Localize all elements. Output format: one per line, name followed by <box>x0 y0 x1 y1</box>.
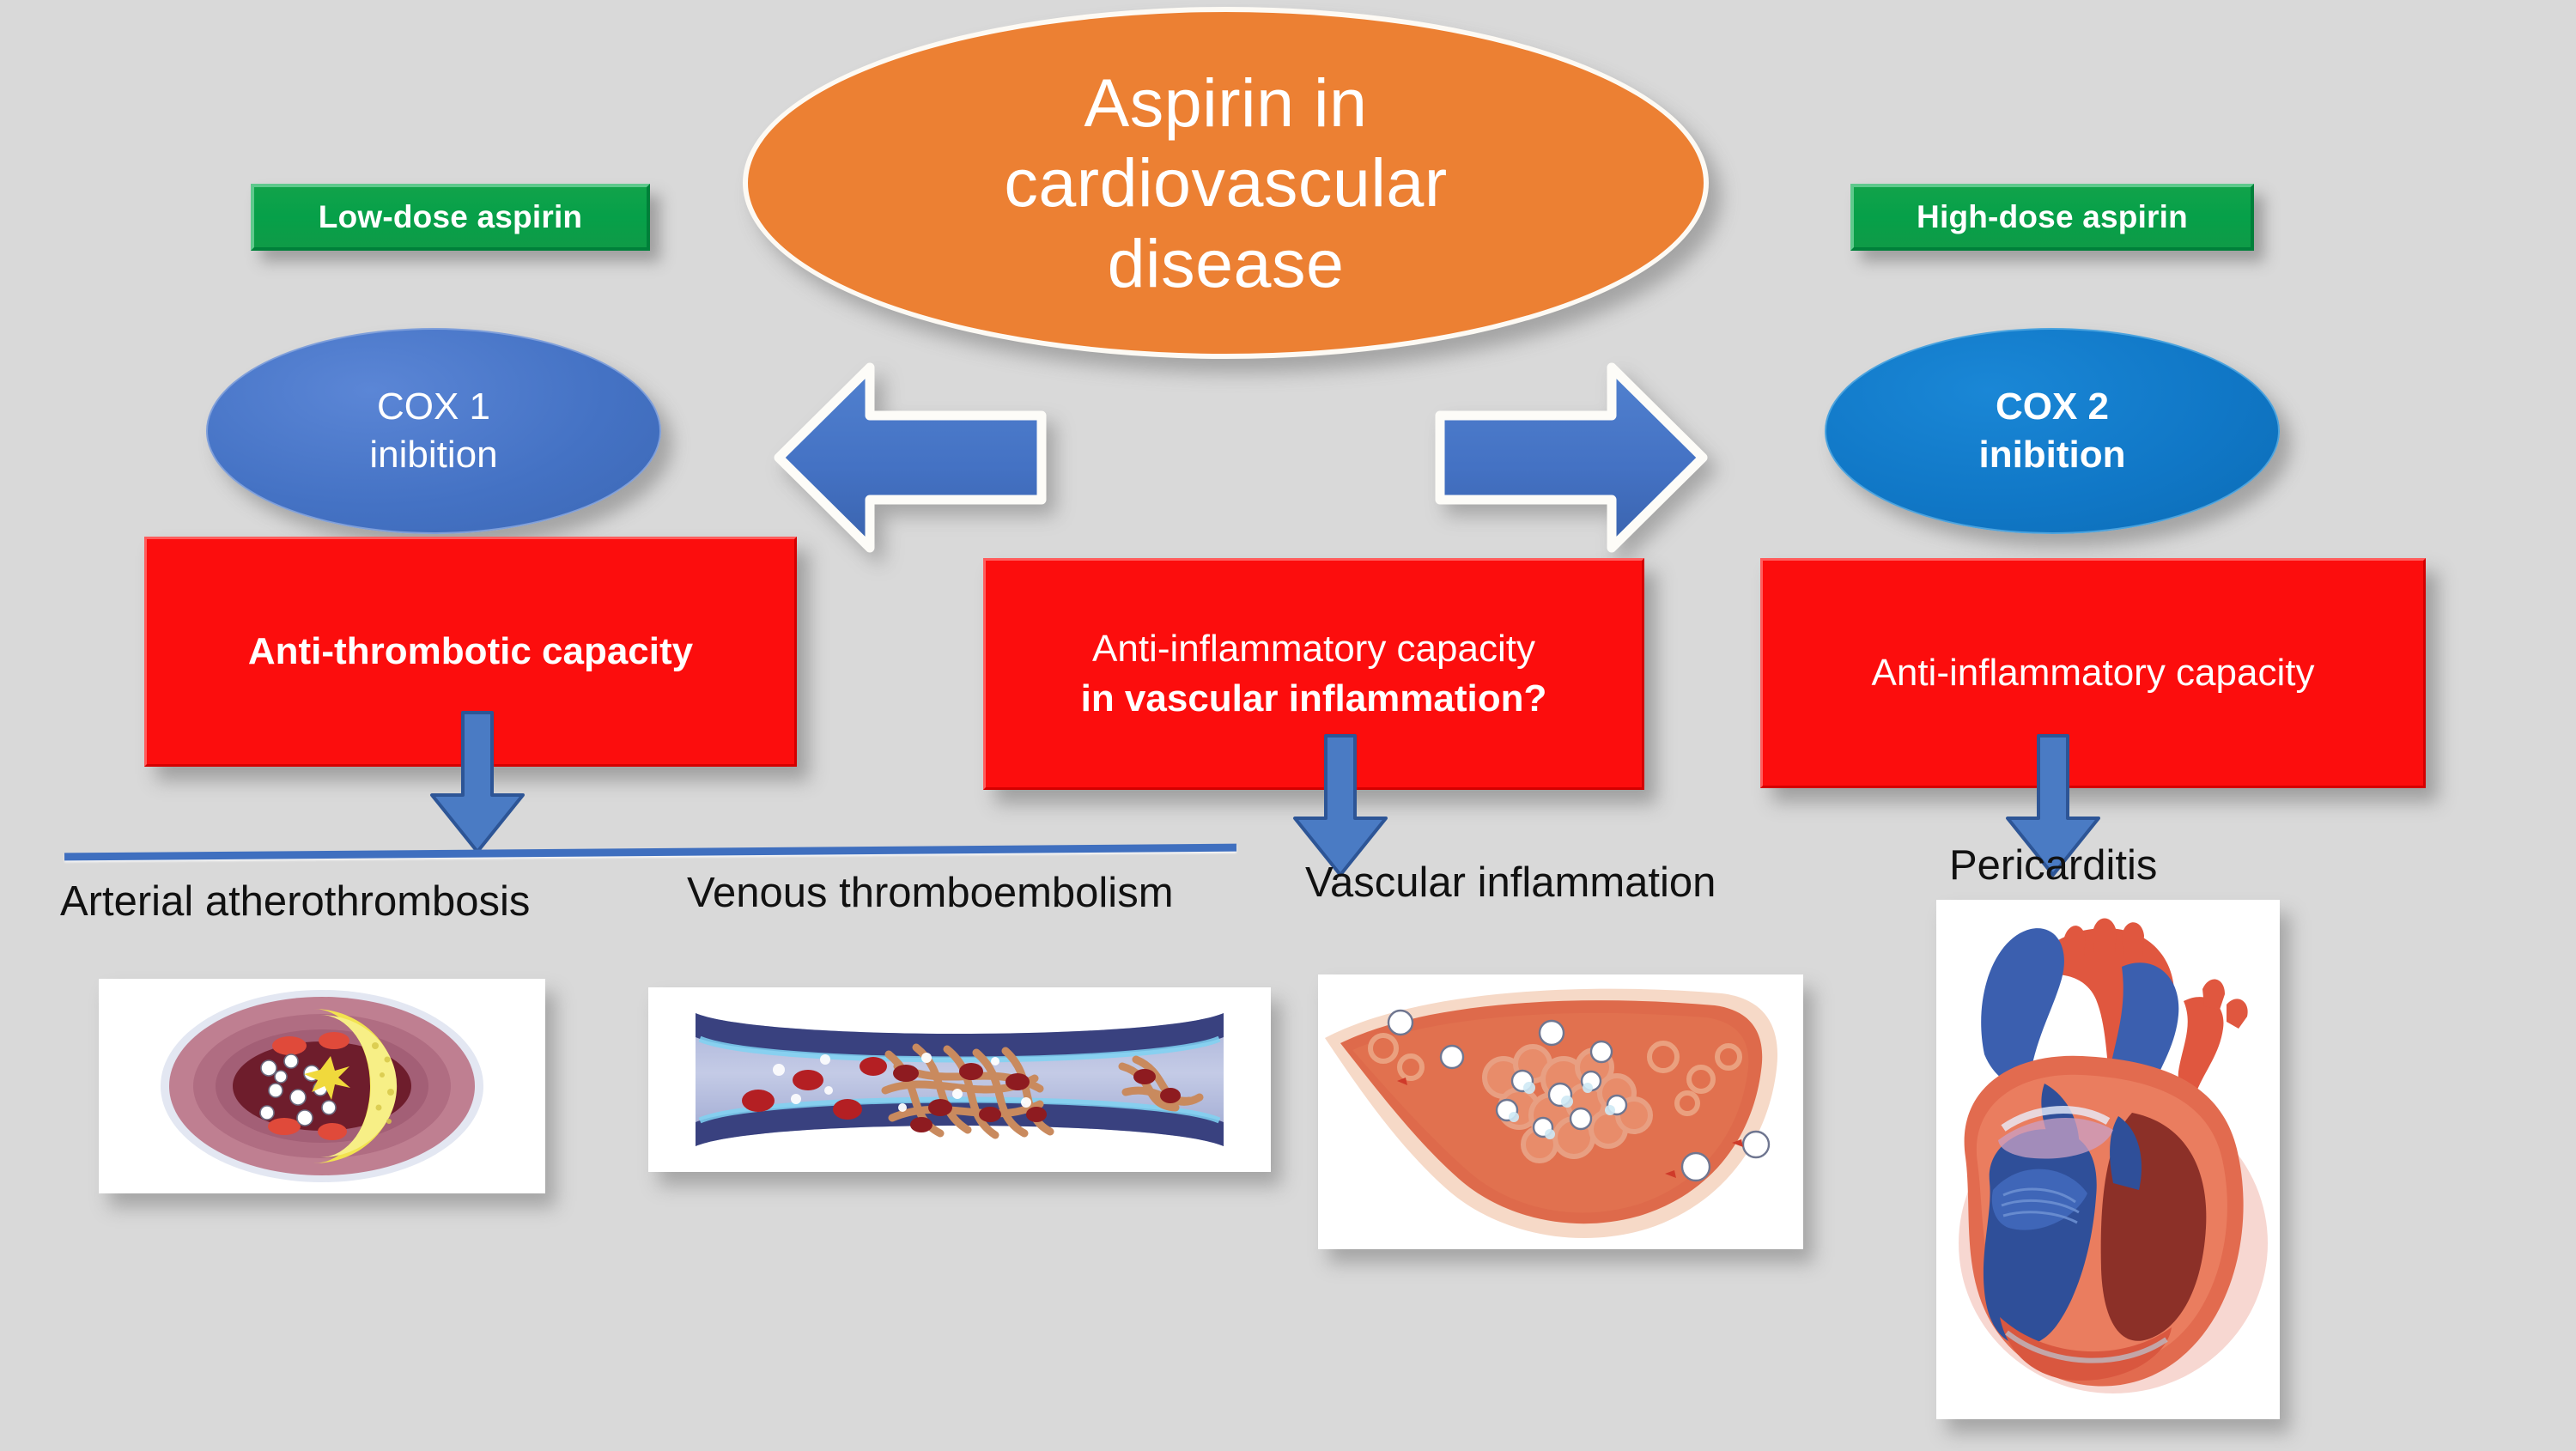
low-dose-aspirin-label: Low-dose aspirin <box>319 199 582 235</box>
arrow-down-icon-arterial <box>425 711 530 855</box>
arrow-left-icon <box>769 362 1048 553</box>
caption-arterial-atherothrombosis: Arterial atherothrombosis <box>60 877 530 926</box>
anti-inflammatory-capacity-label: Anti-inflammatory capacity <box>1872 648 2315 698</box>
anti-inflammatory-vascular-line1: Anti-inflammatory capacity <box>1081 624 1547 674</box>
caption-venous-thromboembolism: Venous thromboembolism <box>687 869 1174 917</box>
high-dose-aspirin-label: High-dose aspirin <box>1917 199 2188 235</box>
cox2-label: COX 2 inibition <box>1978 383 2125 480</box>
diagram-canvas: Aspirin in cardiovascular disease Low-do… <box>0 0 2576 1451</box>
high-dose-aspirin-chip: High-dose aspirin <box>1850 184 2254 251</box>
heart-cross-section-illustration <box>1936 900 2280 1419</box>
cox1-label: COX 1 inibition <box>369 383 497 480</box>
arrow-right-icon <box>1434 362 1713 553</box>
vein-clot-illustration <box>648 987 1271 1172</box>
anti-inflammatory-vascular-line2: in vascular inflammation? <box>1081 674 1547 724</box>
title-text: Aspirin in cardiovascular disease <box>1004 63 1447 303</box>
cox2-inhibition-ellipse: COX 2 inibition <box>1825 328 2280 534</box>
cox1-inhibition-ellipse: COX 1 inibition <box>206 328 661 534</box>
caption-vascular-inflammation: Vascular inflammation <box>1305 859 1716 907</box>
arrow-down-icon-vascular <box>1288 734 1393 878</box>
blue-divider-rule <box>64 844 1236 861</box>
anti-inflammatory-vascular-text: Anti-inflammatory capacity in vascular i… <box>1081 624 1547 724</box>
anti-thrombotic-capacity-label: Anti-thrombotic capacity <box>248 627 693 677</box>
caption-pericarditis: Pericarditis <box>1949 841 2157 889</box>
title-ellipse: Aspirin in cardiovascular disease <box>743 7 1709 359</box>
vessel-wall-leukocytes-illustration <box>1318 974 1803 1249</box>
low-dose-aspirin-chip: Low-dose aspirin <box>251 184 650 251</box>
artery-plaque-thrombus-illustration <box>99 979 545 1193</box>
